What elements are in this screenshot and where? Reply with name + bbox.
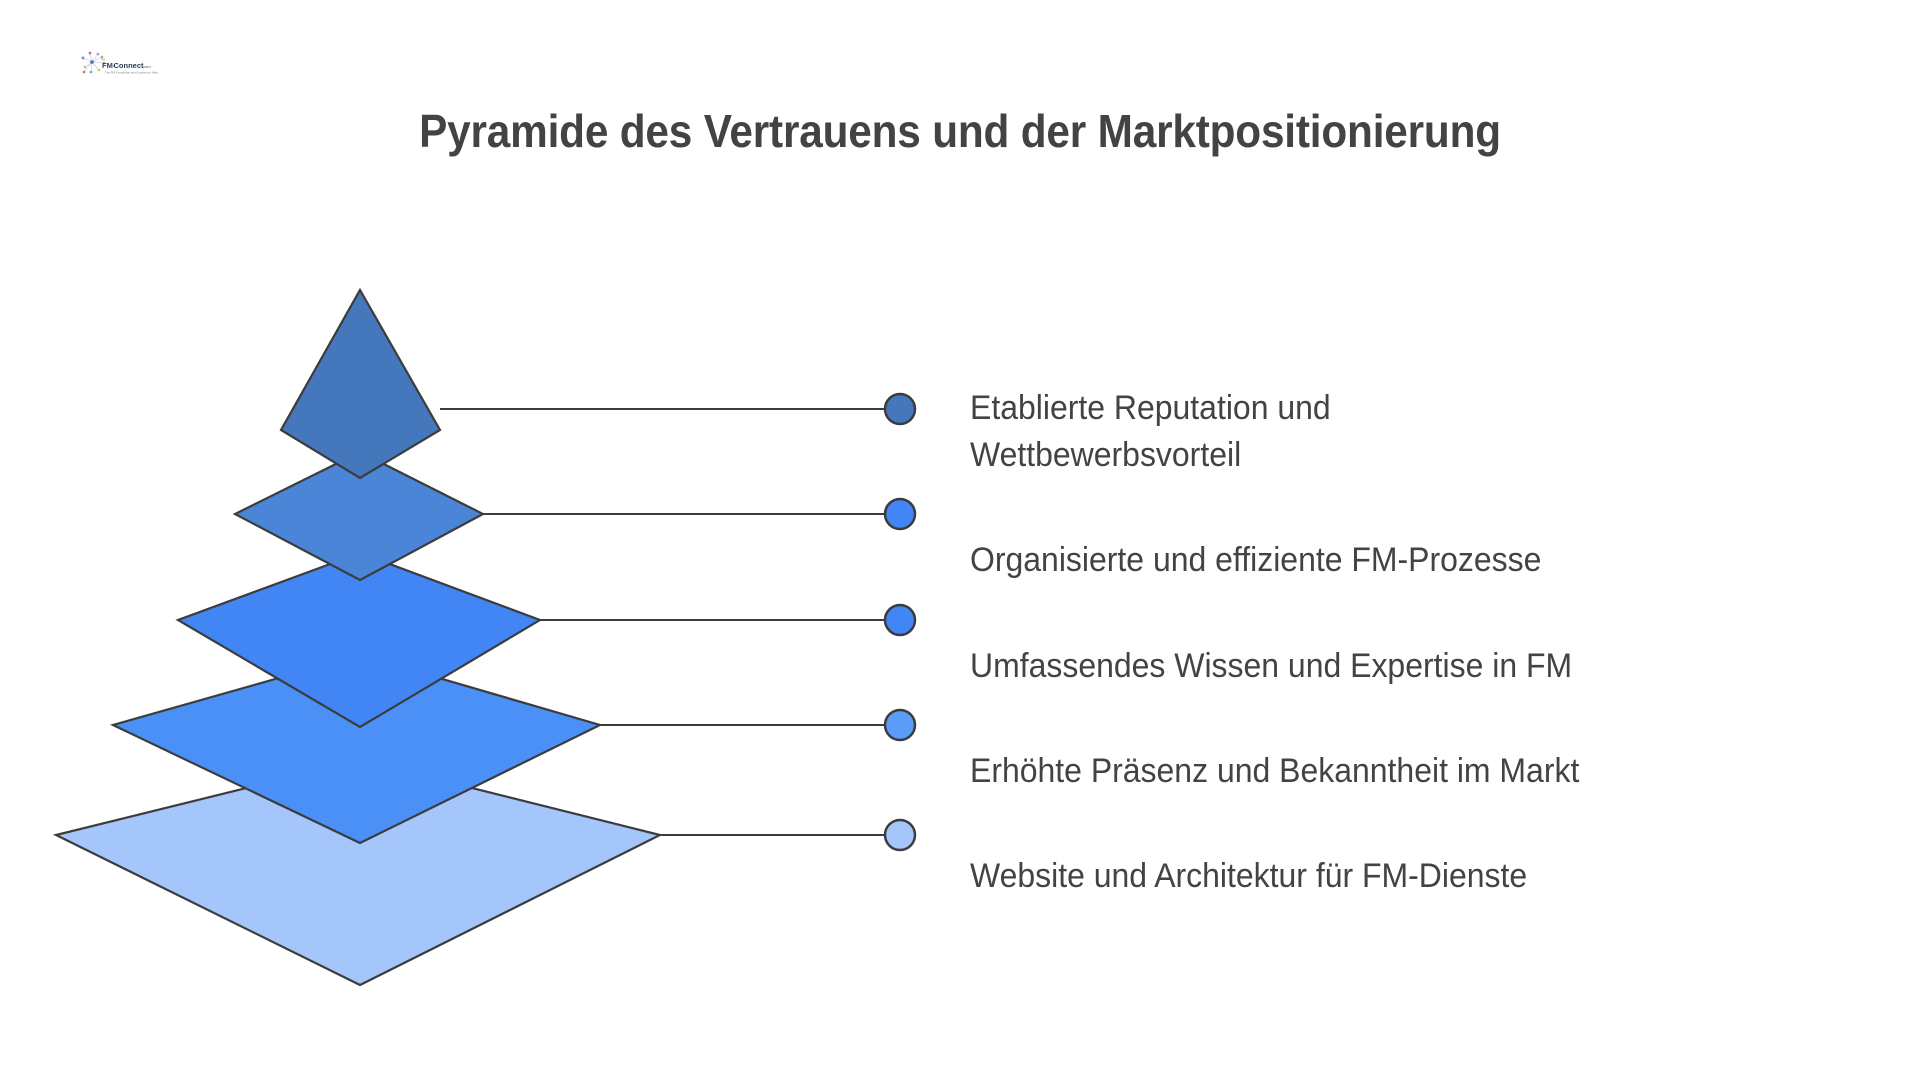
connector-dot-4[interactable]	[885, 710, 915, 740]
connector-dot-1[interactable]	[885, 394, 915, 424]
connector-5	[660, 820, 915, 850]
connector-dot-3[interactable]	[885, 605, 915, 635]
pyramid-label-list: Etablierte Reputation und Wettbewerbsvor…	[970, 0, 1870, 1090]
pyramid-label-4: Erhöhte Präsenz und Bekanntheit im Markt	[970, 748, 1579, 795]
pyramid-label-1: Etablierte Reputation und Wettbewerbsvor…	[970, 385, 1384, 479]
connector-dot-5[interactable]	[885, 820, 915, 850]
connector-4	[600, 710, 915, 740]
connector-dot-2[interactable]	[885, 499, 915, 529]
slide-canvas: FM- Connect .com TM The FM Knowledge and…	[0, 0, 1920, 1090]
pyramid-layer-1-shape[interactable]	[281, 290, 440, 478]
connector-1	[440, 394, 915, 424]
pyramid-label-2: Organisierte und effiziente FM-Prozesse	[970, 537, 1541, 584]
pyramid-label-3: Umfassendes Wissen und Expertise in FM	[970, 643, 1572, 690]
connector-3	[540, 605, 915, 635]
connector-2	[483, 499, 915, 529]
pyramid-label-5: Website und Architektur für FM-Dienste	[970, 853, 1527, 900]
pyramid-layer-1[interactable]	[281, 290, 440, 478]
